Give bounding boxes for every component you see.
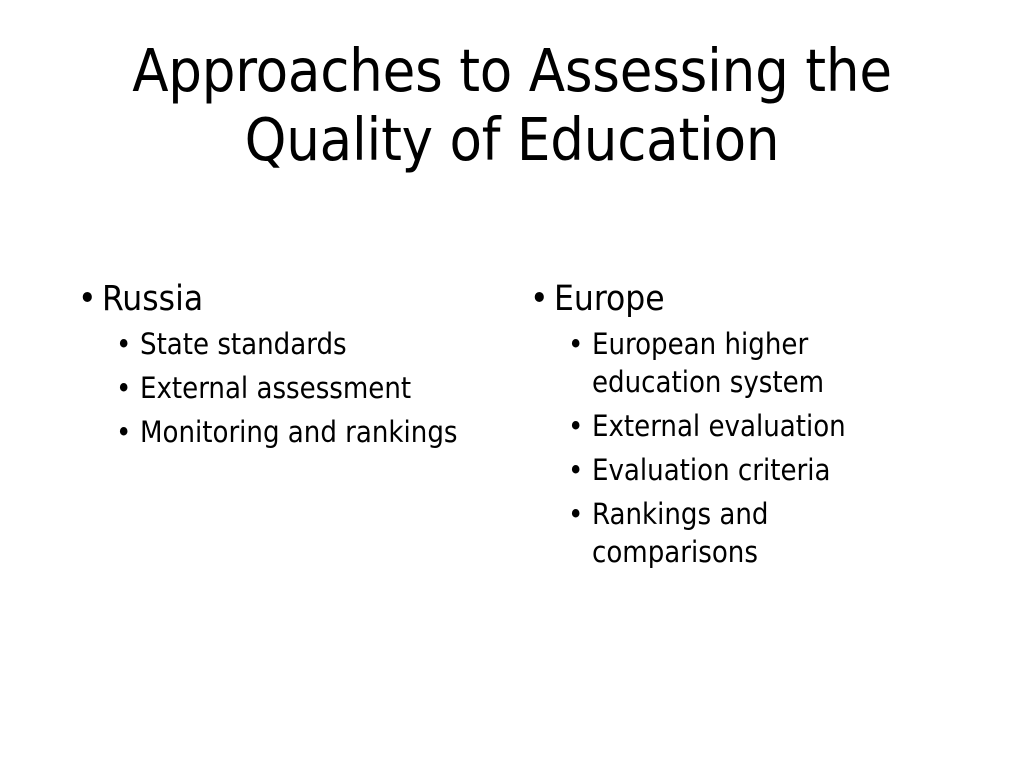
bullet-level2-label: Rankings and comparisons — [592, 497, 768, 569]
bullet-point-icon: • — [568, 325, 583, 363]
content-column-left: • Russia • State standards • External as… — [64, 277, 484, 457]
bullet-level2-label: External evaluation — [592, 409, 846, 443]
content-column-right: • Europe • European higher education sys… — [516, 277, 916, 577]
bullet-level2-label: State standards — [140, 327, 347, 361]
bullet-point-icon: • — [568, 407, 583, 445]
bullet-level1-label: Russia — [102, 279, 203, 319]
bullet-point-icon: • — [116, 413, 131, 451]
bullet-level2-label: Monitoring and rankings — [140, 415, 458, 449]
bullet-level2-item: • Evaluation criteria — [566, 451, 916, 489]
bullet-point-icon: • — [116, 325, 131, 363]
bullet-point-icon: • — [78, 277, 97, 322]
bullet-point-icon: • — [530, 277, 549, 322]
bullet-level2-label: Evaluation criteria — [592, 453, 831, 487]
bullet-list-russia: • Russia • State standards • External as… — [64, 277, 484, 451]
bullet-level1-europe: • Europe — [516, 277, 916, 322]
sublist-europe: • European higher education system • Ext… — [516, 325, 916, 571]
bullet-list-europe: • Europe • European higher education sys… — [516, 277, 916, 571]
bullet-level2-item: • European higher education system — [566, 325, 916, 401]
slide: Approaches to Assessing the Quality of E… — [0, 0, 1024, 767]
bullet-level2-item: • Rankings and comparisons — [566, 495, 916, 571]
bullet-level2-item: • Monitoring and rankings — [114, 413, 484, 451]
bullet-level2-label: External assessment — [140, 371, 411, 405]
bullet-level2-item: • External assessment — [114, 369, 484, 407]
slide-title: Approaches to Assessing the Quality of E… — [60, 36, 964, 174]
sublist-container-europe: • European higher education system • Ext… — [516, 325, 916, 571]
bullet-level2-label: European higher education system — [592, 327, 824, 399]
bullet-point-icon: • — [116, 369, 131, 407]
bullet-point-icon: • — [568, 451, 583, 489]
slide-body: • Russia • State standards • External as… — [0, 277, 1024, 697]
bullet-level2-item: • External evaluation — [566, 407, 916, 445]
bullet-point-icon: • — [568, 495, 583, 533]
sublist-russia: • State standards • External assessment … — [64, 325, 484, 451]
bullet-level2-item: • State standards — [114, 325, 484, 363]
bullet-level1-label: Europe — [554, 279, 665, 319]
sublist-container-russia: • State standards • External assessment … — [64, 325, 484, 451]
bullet-level1-russia: • Russia — [64, 277, 484, 322]
